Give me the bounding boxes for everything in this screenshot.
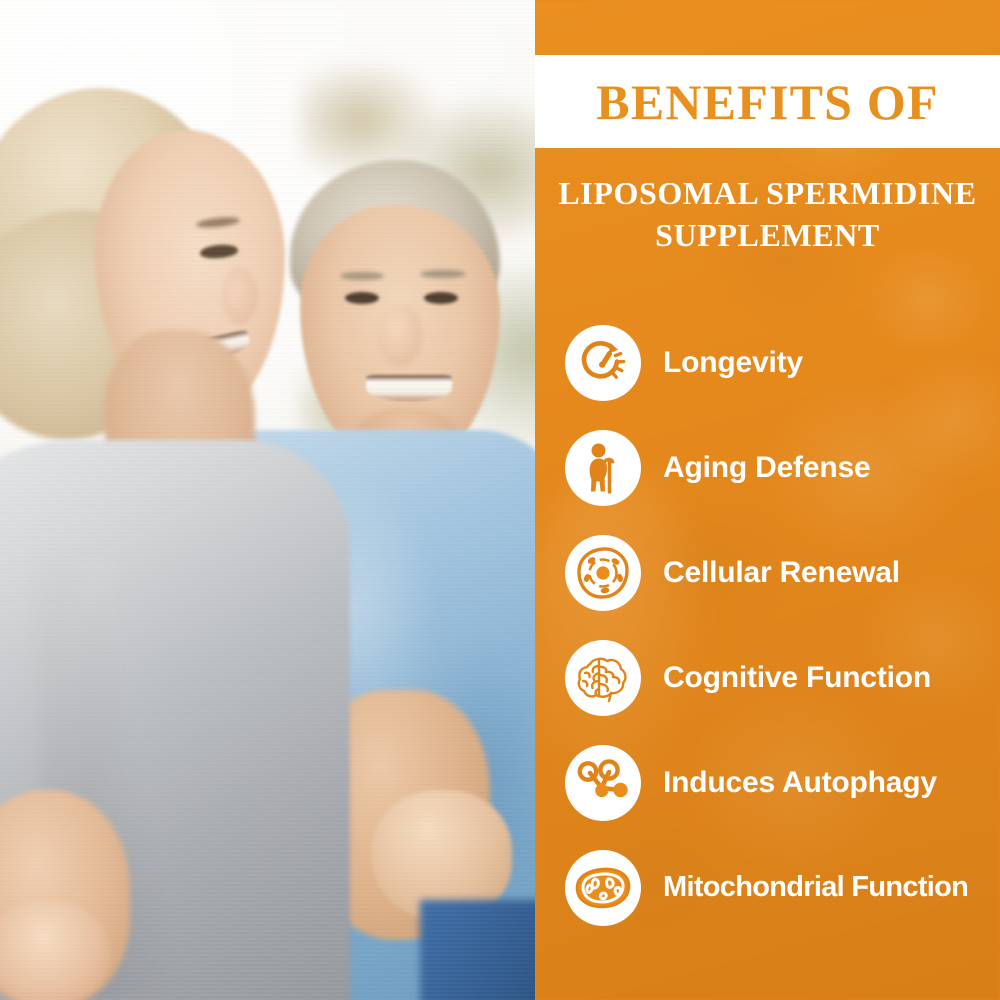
subtitle-line-1: LIPOSOMAL SPERMIDINE — [545, 172, 990, 214]
benefit-label: Longevity — [663, 348, 803, 378]
photo-man-eye-right — [424, 292, 458, 304]
benefit-item-induces-autophagy[interactable]: Induces Autophagy — [535, 730, 1000, 835]
benefit-label: Mitochondrial Function — [663, 873, 968, 902]
photo-man-pants — [420, 900, 535, 1000]
info-panel: BENEFITS OF LIPOSOMAL SPERMIDINE SUPPLEM… — [535, 0, 1000, 1000]
photo-man-nose — [378, 305, 422, 367]
page-title: BENEFITS OF — [596, 77, 938, 127]
benefit-item-mitochondrial-function[interactable]: Mitochondrial Function — [535, 835, 1000, 940]
brain-icon — [565, 640, 641, 716]
stopwatch-icon — [565, 325, 641, 401]
benefits-infographic: BENEFITS OF LIPOSOMAL SPERMIDINE SUPPLEM… — [0, 0, 1000, 1000]
photo-man-eyebrow-right — [420, 270, 466, 278]
cell-icon — [565, 535, 641, 611]
title-band: BENEFITS OF — [535, 55, 1000, 148]
benefit-label: Cognitive Function — [663, 663, 931, 693]
hero-photo — [0, 0, 535, 1000]
elderly-person-cane-icon — [565, 430, 641, 506]
photo-man-eyebrow-left — [340, 272, 384, 280]
benefit-item-cellular-renewal[interactable]: Cellular Renewal — [535, 520, 1000, 625]
benefit-label: Cellular Renewal — [663, 558, 900, 588]
photo-man-smile — [366, 375, 452, 401]
subtitle-line-2: SUPPLEMENT — [545, 214, 990, 256]
benefit-item-cognitive-function[interactable]: Cognitive Function — [535, 625, 1000, 730]
page-subtitle: LIPOSOMAL SPERMIDINE SUPPLEMENT — [545, 172, 990, 256]
benefit-label: Aging Defense — [663, 453, 870, 483]
benefit-item-longevity[interactable]: Longevity — [535, 310, 1000, 415]
photo-woman-nose — [222, 268, 258, 324]
benefits-list: Longevity Aging Defense — [535, 310, 1000, 940]
benefit-label: Induces Autophagy — [663, 768, 937, 798]
benefit-item-aging-defense[interactable]: Aging Defense — [535, 415, 1000, 520]
photo-man-eye-left — [345, 292, 379, 304]
mitochondria-icon — [565, 850, 641, 926]
molecule-icon — [565, 745, 641, 821]
